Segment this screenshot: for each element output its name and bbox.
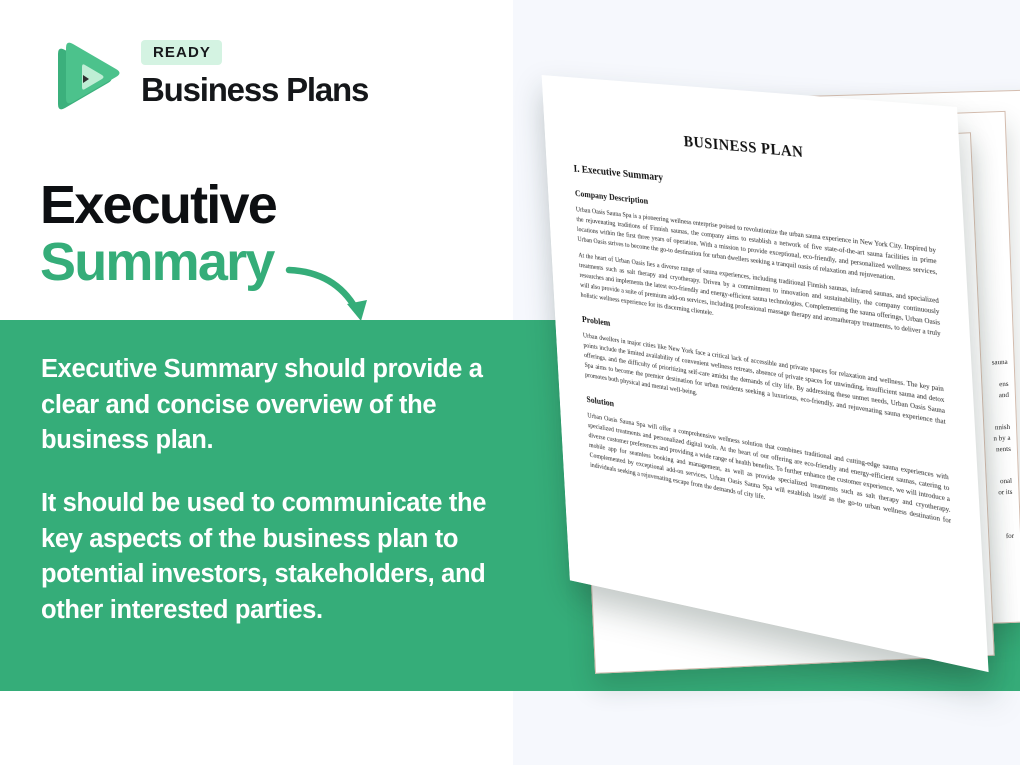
double-play-triangle-logo-icon (38, 38, 120, 118)
page-title-line1: Executive (40, 178, 276, 232)
brand-name: Business Plans (141, 71, 368, 109)
page-title-line2: Summary (40, 232, 276, 292)
callout-paragraph-2: It should be used to communicate the key… (41, 486, 489, 629)
document-sheet-front[interactable]: BUSINESS PLAN I. Executive Summary Compa… (542, 75, 989, 672)
brand-logo[interactable]: READY Business Plans (38, 36, 338, 120)
document-section-heading: I. Executive Summary (573, 163, 933, 211)
page-title: Executive Summary (40, 178, 276, 292)
ready-badge: READY (141, 40, 222, 65)
document-stack: na sh by a nts ual its for sauna ens and… (455, 85, 1020, 685)
brand-text-block: READY Business Plans (141, 40, 368, 109)
callout-text: Executive Summary should provide a clear… (41, 352, 489, 629)
sheet-edge-text: sauna ens and nnish n by a nents onal or… (990, 357, 1014, 542)
document-title: BUSINESS PLAN (571, 122, 932, 174)
poster-canvas: READY Business Plans Executive Summary E… (0, 0, 1020, 765)
callout-paragraph-1: Executive Summary should provide a clear… (41, 352, 489, 459)
